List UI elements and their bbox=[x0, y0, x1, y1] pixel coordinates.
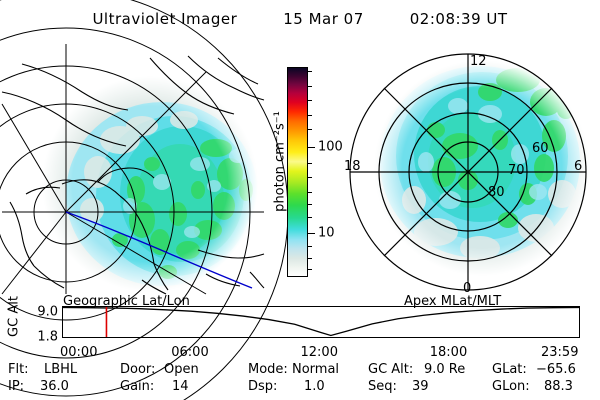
status-key: Door: bbox=[120, 362, 155, 377]
auroral-emission-right bbox=[374, 60, 590, 276]
status-key: Mode: bbox=[248, 362, 288, 377]
status-key: IP: bbox=[8, 379, 24, 394]
status-value: 1.0 bbox=[304, 379, 325, 394]
status-value: −65.6 bbox=[536, 362, 576, 377]
colorbar-tick bbox=[307, 163, 312, 164]
status-value: Normal bbox=[292, 362, 339, 377]
colorbar-tick bbox=[307, 100, 312, 101]
time-tick-label: 12:00 bbox=[301, 346, 338, 359]
colorbar-tick bbox=[307, 217, 312, 218]
time-tick-label: 23:59 bbox=[541, 346, 578, 359]
colorbar-tick bbox=[307, 129, 312, 130]
status-key: GC Alt: bbox=[368, 362, 413, 377]
status-footer: Flt:LBHLDoor:OpenMode:NormalGC Alt:9.0 R… bbox=[0, 362, 600, 398]
observation-date: 15 Mar 07 bbox=[283, 10, 364, 28]
mlt-label-18: 18 bbox=[344, 159, 361, 174]
colorbar-tick bbox=[307, 115, 312, 116]
header: Ultraviolet Imager 15 Mar 07 02:08:39 UT bbox=[0, 6, 600, 32]
uv-imager-display: Ultraviolet Imager 15 Mar 07 02:08:39 UT bbox=[0, 0, 600, 400]
colorbar-tick bbox=[307, 177, 312, 178]
altitude-time-axis: 00:0006:0012:0018:0023:59 bbox=[0, 344, 600, 364]
mlat-label-80: 80 bbox=[488, 185, 505, 200]
mlt-label-12: 12 bbox=[470, 54, 487, 69]
colorbar-tick bbox=[307, 192, 312, 193]
altitude-trace bbox=[62, 308, 579, 336]
altitude-ytick-high: 9.0 bbox=[37, 306, 58, 319]
altitude-timeline: GC Alt 9.0 1.8 00:0006:0012:0018:0023:59 bbox=[0, 306, 600, 342]
status-key: GLat: bbox=[492, 362, 527, 377]
mlt-label-6: 6 bbox=[574, 159, 582, 174]
mlt-dial-grid bbox=[350, 54, 586, 290]
colorbar-tick bbox=[307, 86, 312, 87]
mlt-dial-panel: 12 6 0 18 60 70 80 bbox=[340, 44, 598, 294]
geographic-panel bbox=[2, 44, 264, 294]
colorbar-tick bbox=[307, 204, 312, 205]
status-key: Dsp: bbox=[248, 379, 277, 394]
observation-time: 02:08:39 UT bbox=[410, 10, 508, 28]
status-row-2: IP:36.0Gain:14Dsp:1.0Seq:39GLon:88.3 bbox=[0, 379, 600, 396]
colorbar: photon cm⁻²s⁻¹ 10010 bbox=[262, 50, 340, 295]
time-tick-label: 18:00 bbox=[430, 346, 467, 359]
status-key: GLon: bbox=[492, 379, 530, 394]
status-key: Flt: bbox=[8, 362, 29, 377]
status-value: 88.3 bbox=[544, 379, 573, 394]
status-value: 39 bbox=[412, 379, 429, 394]
status-key: Seq: bbox=[368, 379, 397, 394]
status-value: Open bbox=[164, 362, 199, 377]
colorbar-tick bbox=[307, 258, 312, 259]
status-value: 14 bbox=[172, 379, 189, 394]
altitude-axis-label: GC Alt bbox=[7, 289, 22, 345]
colorbar-gradient bbox=[287, 67, 308, 277]
altitude-ytick-low: 1.8 bbox=[37, 331, 58, 344]
status-key: Gain: bbox=[120, 379, 154, 394]
status-value: LBHL bbox=[44, 362, 77, 377]
colorbar-axis-label: photon cm⁻²s⁻¹ bbox=[273, 92, 288, 232]
colorbar-tick bbox=[307, 71, 312, 72]
time-tick-label: 00:00 bbox=[60, 346, 97, 359]
status-value: 9.0 Re bbox=[424, 362, 465, 377]
mlat-label-70: 70 bbox=[508, 163, 525, 178]
colorbar-tick bbox=[307, 269, 312, 270]
colorbar-tick-major bbox=[307, 147, 315, 148]
status-row-1: Flt:LBHLDoor:OpenMode:NormalGC Alt:9.0 R… bbox=[0, 362, 600, 379]
colorbar-label: 10 bbox=[318, 227, 335, 240]
altitude-plot-area bbox=[62, 306, 580, 342]
colorbar-tick bbox=[307, 246, 312, 247]
time-tick-label: 06:00 bbox=[171, 346, 208, 359]
status-value: 36.0 bbox=[40, 379, 69, 394]
auroral-emission-left bbox=[42, 76, 258, 292]
colorbar-tick-major bbox=[307, 233, 315, 234]
mlat-label-60: 60 bbox=[532, 141, 549, 156]
